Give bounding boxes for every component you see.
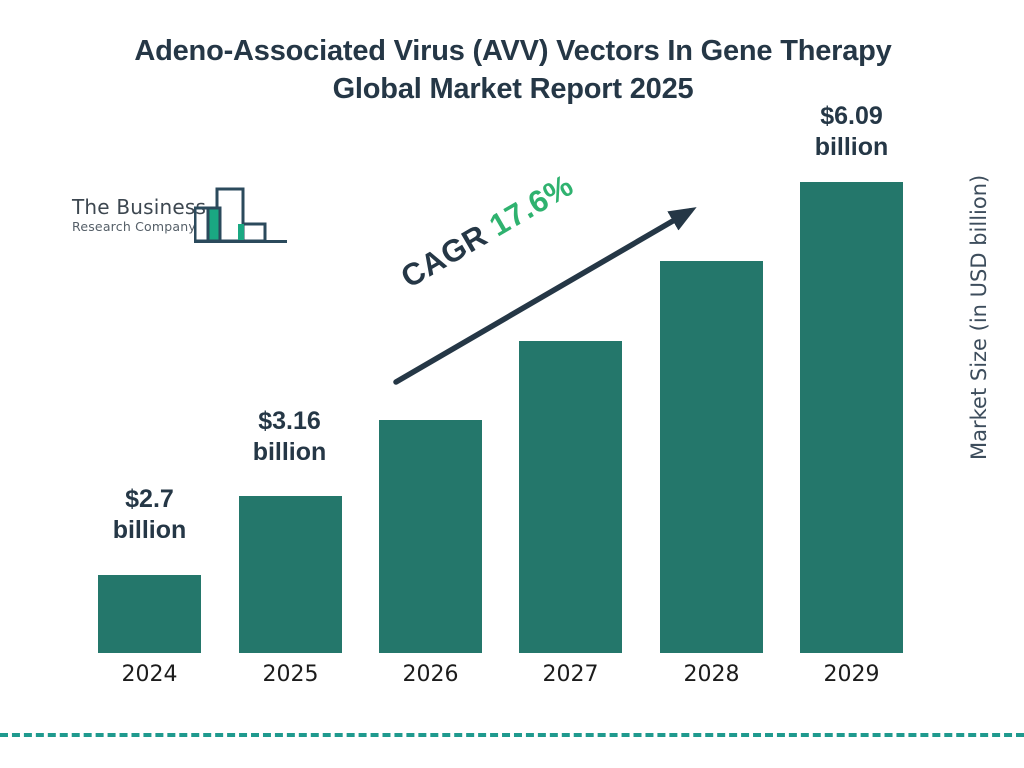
x-tick-2028: 2028	[660, 662, 763, 687]
bottom-divider	[0, 733, 1024, 737]
bar-value-amount-2029: $6.09	[784, 101, 919, 132]
bar-2026	[379, 420, 482, 653]
chart-page: Adeno-Associated Virus (AVV) Vectors In …	[0, 0, 1024, 768]
x-tick-2024: 2024	[98, 662, 201, 687]
bar-value-label-2024: $2.7 billion	[82, 484, 217, 546]
bar-value-unit-2024: billion	[82, 515, 217, 546]
bar-2029	[800, 182, 903, 653]
growth-arrow-icon	[380, 185, 720, 395]
bar-2025	[239, 496, 342, 653]
y-axis-label: Market Size (in USD billion)	[967, 200, 991, 460]
bar-value-amount-2025: $3.16	[222, 406, 357, 437]
x-tick-2027: 2027	[519, 662, 622, 687]
bar-value-unit-2025: billion	[222, 437, 357, 468]
bar-value-amount-2024: $2.7	[82, 484, 217, 515]
x-tick-2026: 2026	[379, 662, 482, 687]
bar-value-label-2025: $3.16 billion	[222, 406, 357, 468]
bar-2024	[98, 575, 201, 653]
x-tick-2025: 2025	[239, 662, 342, 687]
x-tick-2029: 2029	[800, 662, 903, 687]
bar-value-unit-2029: billion	[784, 132, 919, 163]
bar-value-label-2029: $6.09 billion	[784, 101, 919, 163]
bar-chart-plot-area: $2.7 billion $3.16 billion $6.09 billion…	[0, 0, 1024, 768]
